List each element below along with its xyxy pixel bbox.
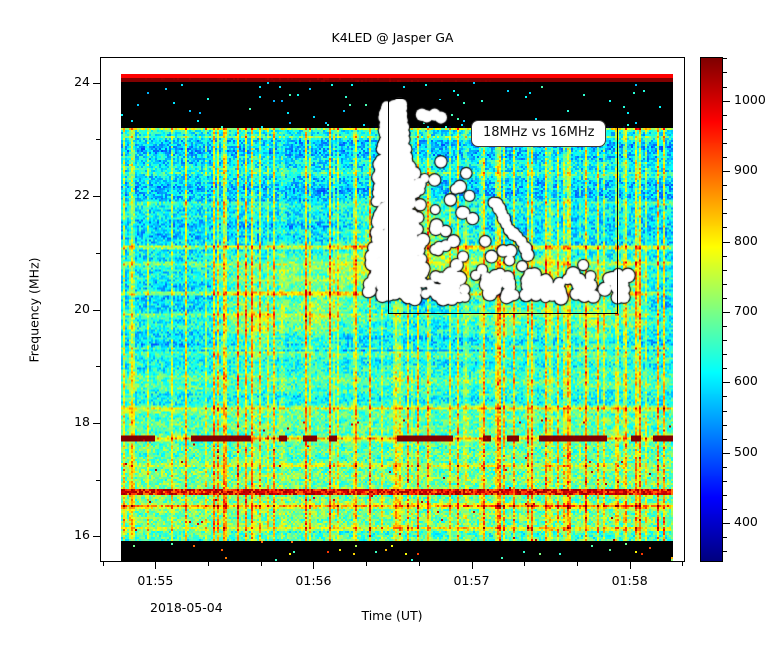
y-tick-label: 20 bbox=[74, 301, 90, 316]
y-tick-mark bbox=[93, 196, 100, 197]
y-tick-mark bbox=[93, 536, 100, 537]
colorbar-tick-mark bbox=[723, 298, 727, 299]
y-tick-mark bbox=[93, 83, 100, 84]
colorbar-tick-mark bbox=[723, 256, 727, 257]
colorbar-tick-mark bbox=[723, 382, 730, 383]
annotation-label: 18MHz vs 16MHz bbox=[471, 120, 606, 147]
x-tick-mark bbox=[682, 562, 683, 566]
colorbar-tick-mark bbox=[723, 87, 727, 88]
colorbar-tick-mark bbox=[723, 171, 730, 172]
y-tick-mark bbox=[96, 366, 100, 367]
y-tick-label: 22 bbox=[74, 187, 90, 202]
colorbar-tick-mark bbox=[723, 495, 727, 496]
colorbar-tick-mark bbox=[723, 368, 727, 369]
x-tick-label: 01:55 bbox=[137, 573, 173, 588]
colorbar-tick-mark bbox=[723, 340, 727, 341]
x-tick-mark bbox=[472, 562, 473, 569]
colorbar-tick-mark bbox=[723, 242, 730, 243]
x-tick-mark bbox=[313, 562, 314, 569]
colorbar-tick-mark bbox=[723, 354, 727, 355]
figure-canvas: K4LED @ Jasper GA 18MHz vs 16MHz 2422201… bbox=[0, 0, 783, 656]
colorbar[interactable] bbox=[700, 57, 723, 562]
colorbar-tick-label: 800 bbox=[734, 233, 758, 248]
y-tick-label: 18 bbox=[74, 414, 90, 429]
colorbar-tick-mark bbox=[723, 199, 727, 200]
colorbar-tick-label: 600 bbox=[734, 373, 758, 388]
colorbar-tick-mark bbox=[723, 551, 727, 552]
x-tick-mark bbox=[103, 562, 104, 566]
x-tick-mark bbox=[366, 562, 367, 566]
colorbar-tick-mark bbox=[723, 101, 730, 102]
y-tick-mark bbox=[96, 139, 100, 140]
x-tick-mark bbox=[261, 562, 262, 566]
colorbar-tick-mark bbox=[723, 227, 727, 228]
colorbar-tick-mark bbox=[723, 129, 727, 130]
y-tick-mark bbox=[93, 423, 100, 424]
colorbar-tick-mark bbox=[723, 509, 727, 510]
colorbar-tick-mark bbox=[723, 396, 727, 397]
colorbar-tick-label: 400 bbox=[734, 514, 758, 529]
colorbar-tick-label: 500 bbox=[734, 444, 758, 459]
x-tick-label: 01:56 bbox=[295, 573, 331, 588]
spectrogram-axes[interactable]: 18MHz vs 16MHz bbox=[100, 57, 685, 562]
colorbar-tick-mark bbox=[723, 58, 727, 59]
x-tick-mark bbox=[208, 562, 209, 566]
colorbar-tick-mark bbox=[723, 312, 730, 313]
colorbar-tick-mark bbox=[723, 481, 727, 482]
colorbar-tick-mark bbox=[723, 157, 727, 158]
colorbar-tick-mark bbox=[723, 143, 727, 144]
colorbar-tick-mark bbox=[723, 284, 727, 285]
x-tick-label: 01:58 bbox=[612, 573, 648, 588]
x-tick-mark bbox=[630, 562, 631, 569]
colorbar-tick-mark bbox=[723, 270, 727, 271]
y-tick-mark bbox=[93, 310, 100, 311]
colorbar-tick-mark bbox=[723, 72, 727, 73]
colorbar-gradient bbox=[701, 58, 722, 561]
x-tick-mark bbox=[524, 562, 525, 566]
colorbar-tick-mark bbox=[723, 425, 727, 426]
y-tick-mark bbox=[96, 480, 100, 481]
y-axis-label: Frequency (MHz) bbox=[27, 257, 42, 362]
colorbar-tick-label: 900 bbox=[734, 162, 758, 177]
colorbar-tick-mark bbox=[723, 411, 727, 412]
y-tick-label: 16 bbox=[74, 527, 90, 542]
y-tick-label: 24 bbox=[74, 74, 90, 89]
colorbar-tick-mark bbox=[723, 115, 727, 116]
y-tick-mark bbox=[96, 253, 100, 254]
colorbar-tick-mark bbox=[723, 523, 730, 524]
x-tick-mark bbox=[577, 562, 578, 566]
colorbar-tick-mark bbox=[723, 537, 727, 538]
x-tick-label: 01:57 bbox=[454, 573, 490, 588]
date-label: 2018-05-04 bbox=[150, 600, 223, 615]
colorbar-tick-label: 700 bbox=[734, 303, 758, 318]
x-tick-mark bbox=[419, 562, 420, 566]
colorbar-tick-mark bbox=[723, 467, 727, 468]
colorbar-tick-mark bbox=[723, 453, 730, 454]
x-axis-label: Time (UT) bbox=[361, 608, 422, 623]
colorbar-tick-label: 1000 bbox=[734, 92, 766, 107]
x-tick-mark bbox=[155, 562, 156, 569]
colorbar-tick-mark bbox=[723, 213, 727, 214]
page-title: K4LED @ Jasper GA bbox=[100, 30, 685, 45]
colorbar-tick-mark bbox=[723, 439, 727, 440]
colorbar-tick-mark bbox=[723, 326, 727, 327]
colorbar-tick-mark bbox=[723, 185, 727, 186]
